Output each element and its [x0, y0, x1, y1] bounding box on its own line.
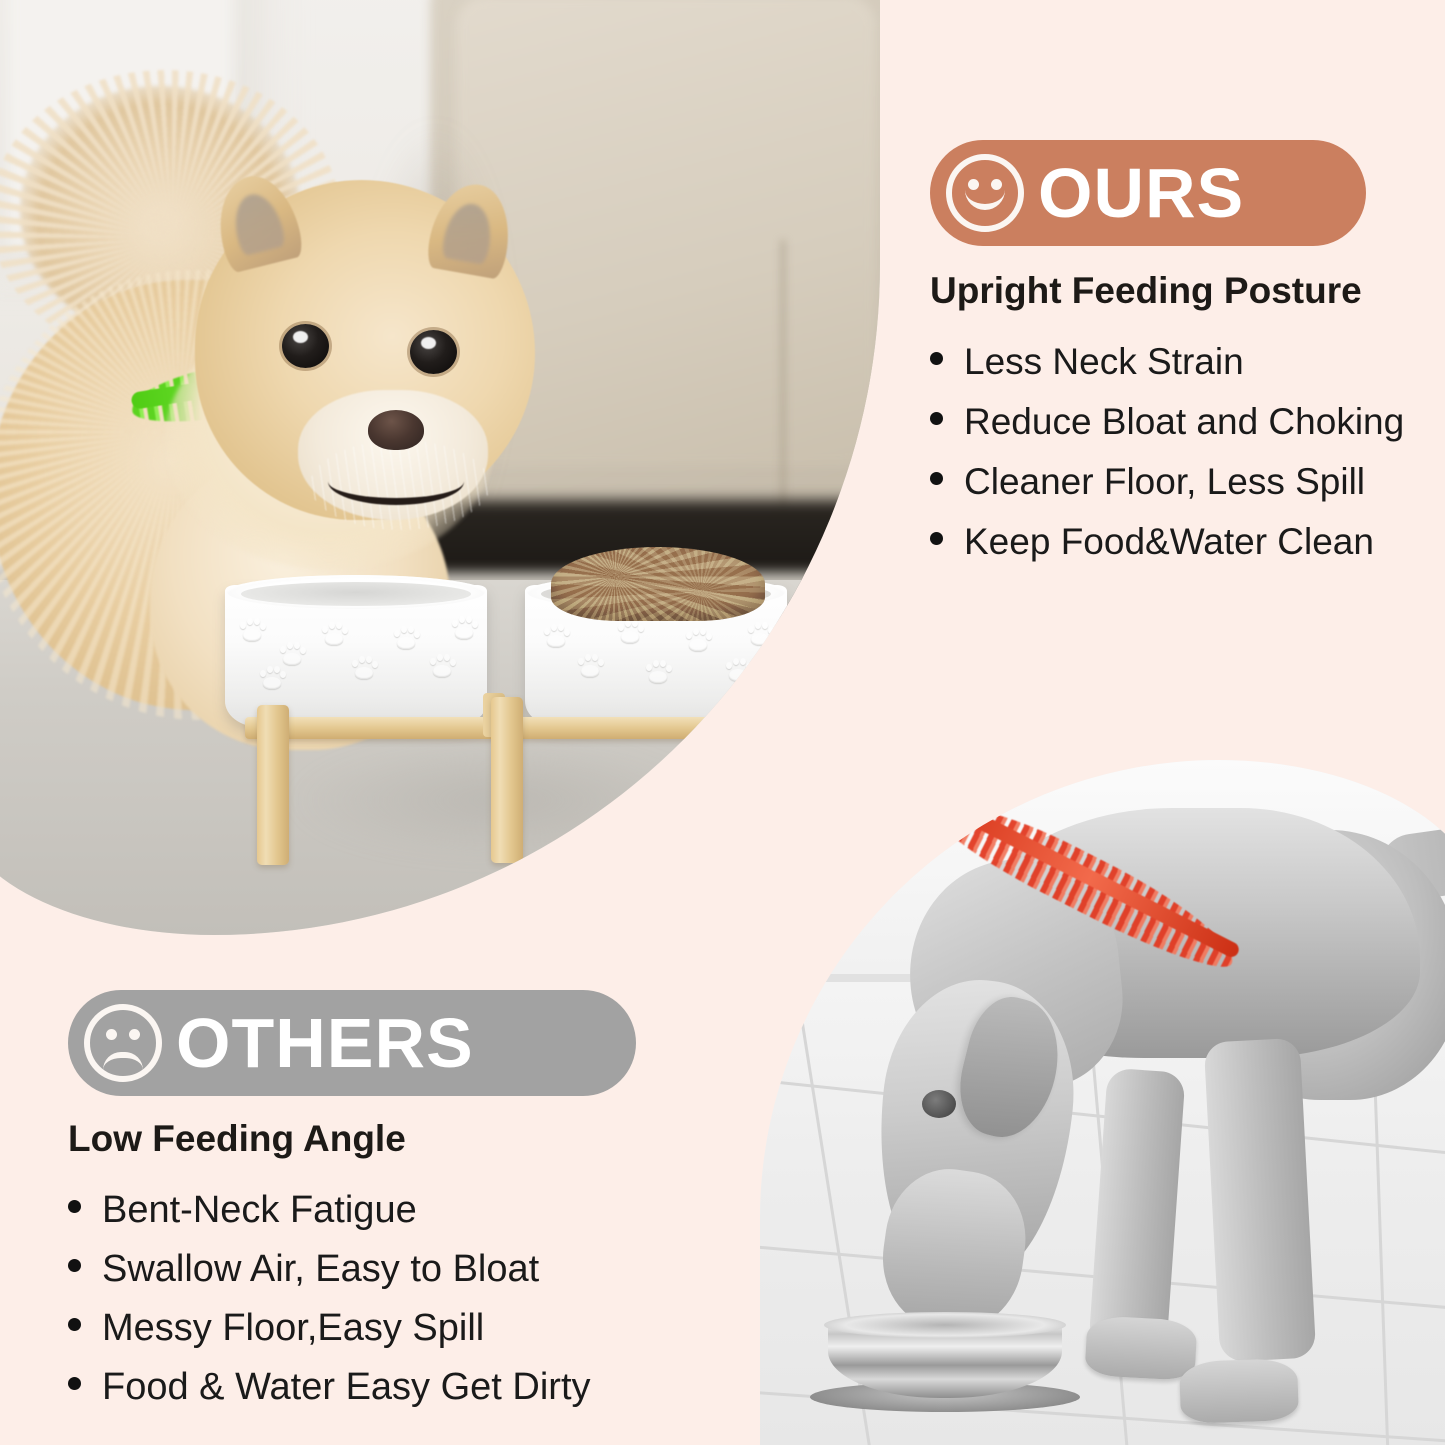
list-item: Food & Water Easy Get Dirty: [68, 1368, 708, 1406]
paw-print-pattern-right: [533, 607, 779, 707]
dog-ear-inner-left: [228, 189, 287, 256]
list-item: Messy Floor,Easy Spill: [68, 1309, 708, 1347]
list-item-label: Bent-Neck Fatigue: [102, 1191, 417, 1229]
list-item-label: Less Neck Strain: [964, 343, 1244, 380]
list-item-label: Reduce Bloat and Choking: [964, 403, 1404, 440]
grayscale-dog: [780, 770, 1445, 1445]
ours-heading: Upright Feeding Posture: [930, 270, 1410, 313]
list-item-label: Swallow Air, Easy to Bloat: [102, 1250, 539, 1288]
bowl-interior-left: [241, 582, 471, 606]
bullet-dot-icon: [930, 532, 943, 545]
list-item: Reduce Bloat and Choking: [930, 403, 1410, 440]
bamboo-stand-leg: [491, 697, 523, 863]
paw-print-icon: [351, 655, 377, 679]
dog-food-kibble: [551, 547, 765, 621]
dog-nose: [368, 410, 424, 450]
paw-print-icon: [429, 653, 455, 677]
paw-print-icon: [685, 627, 711, 651]
list-item-label: Messy Floor,Easy Spill: [102, 1309, 484, 1347]
dog-ear-inner-right: [441, 200, 496, 265]
photo-others-low-feeding: [760, 760, 1445, 1445]
grayscale-dog-back-leg: [1204, 1038, 1317, 1363]
list-item: Keep Food&Water Clean: [930, 523, 1410, 560]
bullet-dot-icon: [930, 412, 943, 425]
dog-eye-right: [410, 330, 457, 374]
dog-ear-right: [425, 178, 517, 280]
bullet-dot-icon: [68, 1377, 81, 1390]
list-item-label: Food & Water Easy Get Dirty: [102, 1368, 591, 1406]
bamboo-stand-leg: [715, 709, 747, 869]
list-item-label: Keep Food&Water Clean: [964, 523, 1374, 560]
elevated-double-bowl-feeder: [225, 585, 795, 905]
paw-print-icon: [239, 617, 265, 641]
list-item: Bent-Neck Fatigue: [68, 1191, 708, 1229]
paw-print-icon: [279, 641, 305, 665]
paw-print-icon: [617, 619, 643, 643]
kibble-texture: [551, 547, 765, 621]
ours-badge: OURS: [930, 140, 1366, 246]
grayscale-dog-paw: [1085, 1315, 1198, 1381]
bullet-dot-icon: [930, 472, 943, 485]
photo-ours-upright-feeding: [0, 0, 880, 935]
infographic-canvas: OURS Upright Feeding Posture Less Neck S…: [0, 0, 1445, 1445]
others-panel: OTHERS Low Feeding Angle Bent-Neck Fatig…: [68, 990, 708, 1427]
couch-seam: [780, 240, 786, 520]
steel-bowl-rim: [824, 1312, 1066, 1338]
smiley-face-icon: [946, 154, 1024, 232]
list-item-label: Cleaner Floor, Less Spill: [964, 463, 1365, 500]
paw-print-icon: [543, 623, 569, 647]
stainless-steel-bowl: [810, 1310, 1080, 1420]
grayscale-dog-front-leg: [1088, 1068, 1185, 1353]
others-drawbacks-list: Bent-Neck Fatigue Swallow Air, Easy to B…: [68, 1191, 708, 1406]
bullet-dot-icon: [68, 1259, 81, 1272]
ours-badge-label: OURS: [1038, 158, 1244, 228]
dog-eye-left: [282, 324, 329, 368]
paw-print-icon: [577, 653, 603, 677]
bullet-dot-icon: [68, 1318, 81, 1331]
paw-print-icon: [259, 665, 285, 689]
bamboo-stand-leg: [257, 705, 289, 865]
paw-print-icon: [725, 657, 751, 681]
ours-benefits-list: Less Neck Strain Reduce Bloat and Chokin…: [930, 343, 1410, 560]
grayscale-dog-eye: [922, 1090, 956, 1118]
paw-print-icon: [645, 659, 671, 683]
list-item: Less Neck Strain: [930, 343, 1410, 380]
sad-face-icon: [84, 1004, 162, 1082]
list-item: Cleaner Floor, Less Spill: [930, 463, 1410, 500]
dog-mouth: [328, 458, 464, 505]
paw-print-icon: [393, 625, 419, 649]
bullet-dot-icon: [68, 1200, 81, 1213]
list-item: Swallow Air, Easy to Bloat: [68, 1250, 708, 1288]
photo-ours-content: [0, 0, 880, 935]
paw-print-icon: [321, 621, 347, 645]
others-badge: OTHERS: [68, 990, 636, 1096]
others-heading: Low Feeding Angle: [68, 1118, 708, 1161]
paw-print-pattern-left: [233, 607, 479, 707]
paw-print-icon: [747, 621, 773, 645]
bullet-dot-icon: [930, 352, 943, 365]
others-badge-label: OTHERS: [176, 1008, 474, 1078]
paw-print-icon: [451, 615, 477, 639]
ours-panel: OURS Upright Feeding Posture Less Neck S…: [930, 140, 1410, 583]
grayscale-dog-paw: [1179, 1358, 1299, 1424]
